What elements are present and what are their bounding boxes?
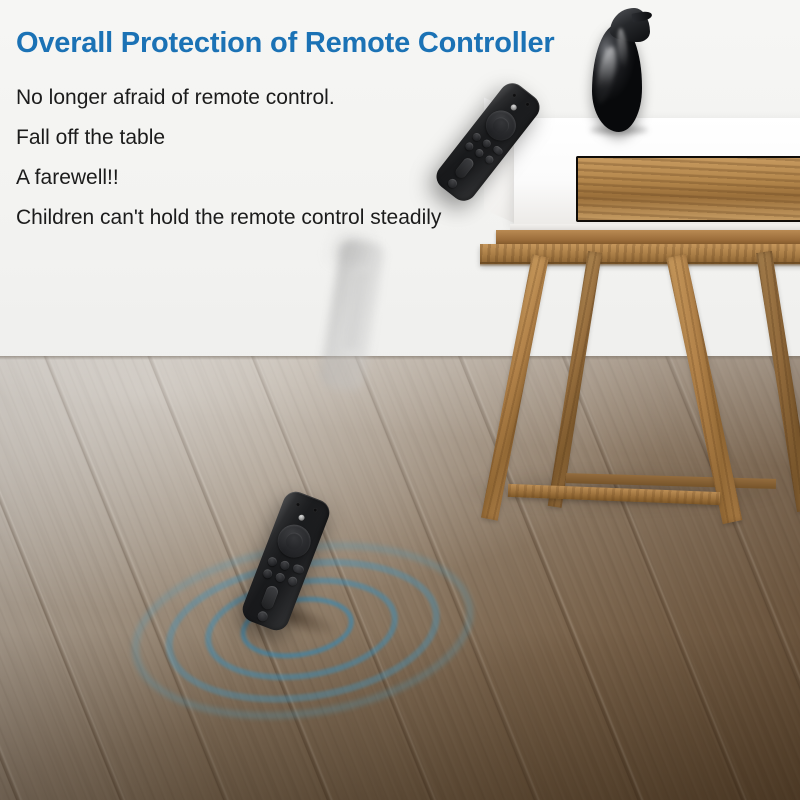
fast-forward-button	[287, 575, 299, 587]
marketing-copy: No longer afraid of remote control. Fall…	[16, 78, 576, 238]
home-button	[279, 560, 291, 572]
table-apron	[480, 244, 800, 264]
table-stretcher-front	[508, 484, 720, 505]
play-pause-button	[274, 572, 286, 584]
table-leg-back-left	[548, 251, 602, 508]
figurine-beak	[631, 10, 652, 22]
table-leg-back-right	[756, 251, 800, 512]
drawer-inset	[576, 156, 800, 222]
copy-line: Children can't hold the remote control s…	[16, 198, 576, 238]
status-led-icon	[298, 514, 306, 522]
page-title: Overall Protection of Remote Controller	[16, 27, 554, 60]
mute-button	[256, 610, 269, 623]
dpad-icon	[273, 520, 316, 563]
rewind-button	[262, 568, 274, 580]
copy-line: Fall off the table	[16, 118, 576, 158]
mic-hole-icon	[313, 507, 318, 512]
table-apron-shadow	[480, 262, 800, 267]
bird-figurine	[588, 6, 652, 132]
copy-line: A farewell!!	[16, 158, 576, 198]
product-scene: Overall Protection of Remote Controller …	[0, 0, 800, 800]
wood-drawer-front	[578, 158, 800, 220]
mic-hole-icon	[295, 502, 300, 507]
back-button	[267, 556, 279, 568]
menu-button	[292, 563, 305, 574]
copy-line: No longer afraid of remote control.	[16, 78, 576, 118]
table-leg-front-left	[481, 254, 549, 520]
volume-rocker	[260, 584, 280, 611]
